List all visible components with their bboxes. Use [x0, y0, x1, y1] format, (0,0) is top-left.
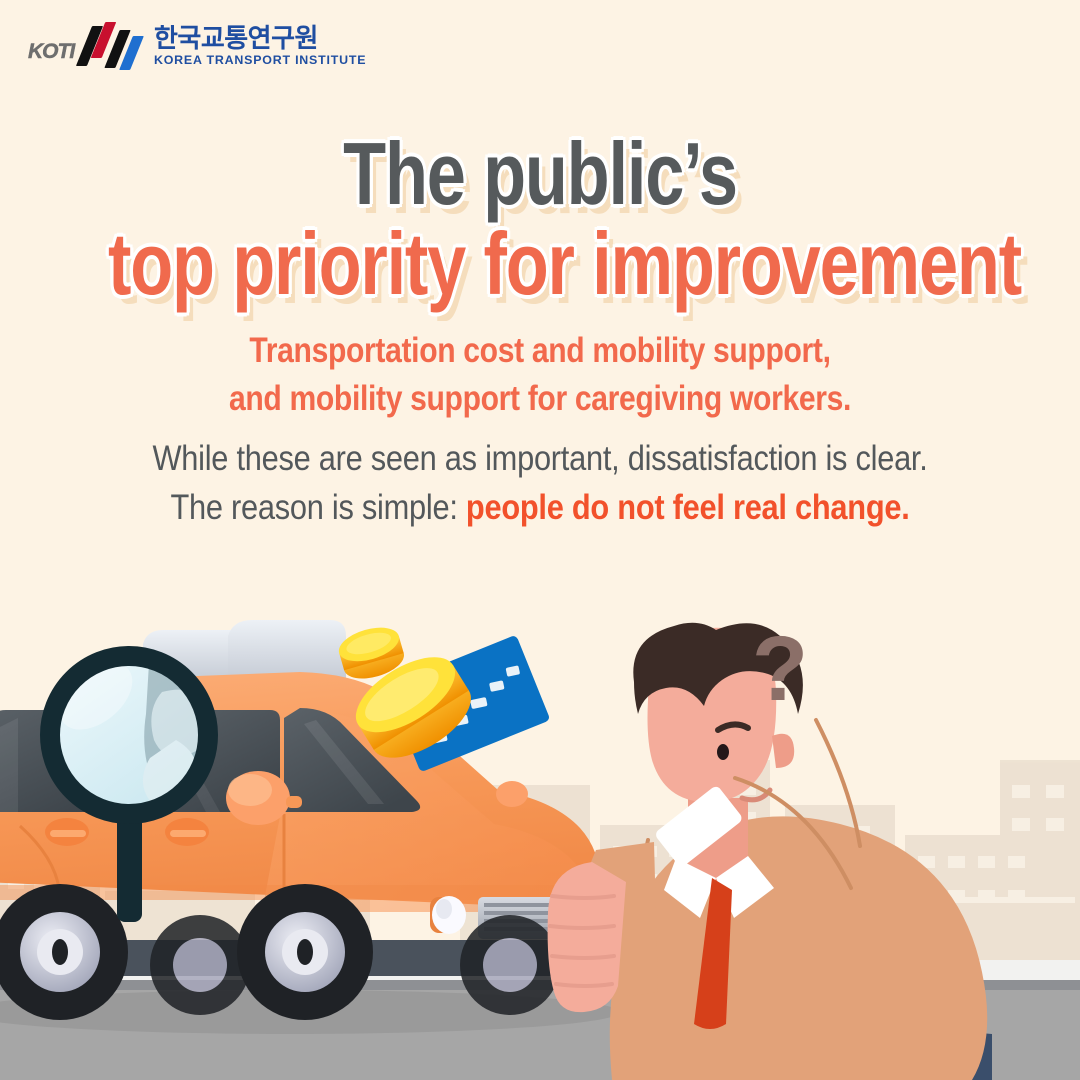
- subhead-line-1: Transportation cost and mobility support…: [76, 327, 1005, 375]
- rear-window-glare: [0, 718, 18, 812]
- body-line-1: While these are seen as important, dissa…: [65, 434, 1015, 483]
- subhead-block: Transportation cost and mobility support…: [0, 327, 1080, 424]
- koti-name-korean: 한국교통연구원: [154, 25, 366, 51]
- subhead-line-2: and mobility support for caregiving work…: [76, 375, 1005, 423]
- man-eye: [717, 744, 729, 760]
- headline-block: The public’s top priority for improvemen…: [0, 132, 1080, 307]
- man-hand: [548, 862, 626, 1012]
- car-wheel-front: [237, 884, 373, 1020]
- scene-svg: ?: [0, 600, 1080, 1080]
- car-wheel-front-far: [460, 915, 560, 1015]
- body-line-2: The reason is simple: people do not feel…: [65, 483, 1015, 532]
- car-door-handle-rear: [45, 818, 89, 846]
- koti-abbrev: KOTI: [28, 40, 74, 64]
- body-block: While these are seen as important, dissa…: [0, 434, 1080, 532]
- question-mark-icon: ?: [752, 618, 808, 720]
- car-door-handle-front: [165, 818, 209, 846]
- koti-logo-mark: KOTI: [28, 22, 146, 70]
- body-line-2-accent: people do not feel real change.: [466, 488, 910, 527]
- body-line-2-prefix: The reason is simple:: [170, 488, 465, 527]
- poster-canvas: KOTI 한국교통연구원 KOREA TRANSPORT INSTITUTE T…: [0, 0, 1080, 1080]
- car-headlight: [430, 896, 466, 934]
- illustration-scene: ?: [0, 600, 1080, 1080]
- koti-logo[interactable]: KOTI 한국교통연구원 KOREA TRANSPORT INSTITUTE: [28, 22, 366, 70]
- headline-line-1: The public’s: [108, 132, 972, 216]
- koti-logo-text: 한국교통연구원 KOREA TRANSPORT INSTITUTE: [154, 25, 366, 66]
- car-wheel-mid: [150, 915, 250, 1015]
- car-mirror-far: [496, 781, 528, 807]
- headline-line-2: top priority for improvement: [108, 222, 972, 306]
- koti-name-english: KOREA TRANSPORT INSTITUTE: [154, 54, 366, 66]
